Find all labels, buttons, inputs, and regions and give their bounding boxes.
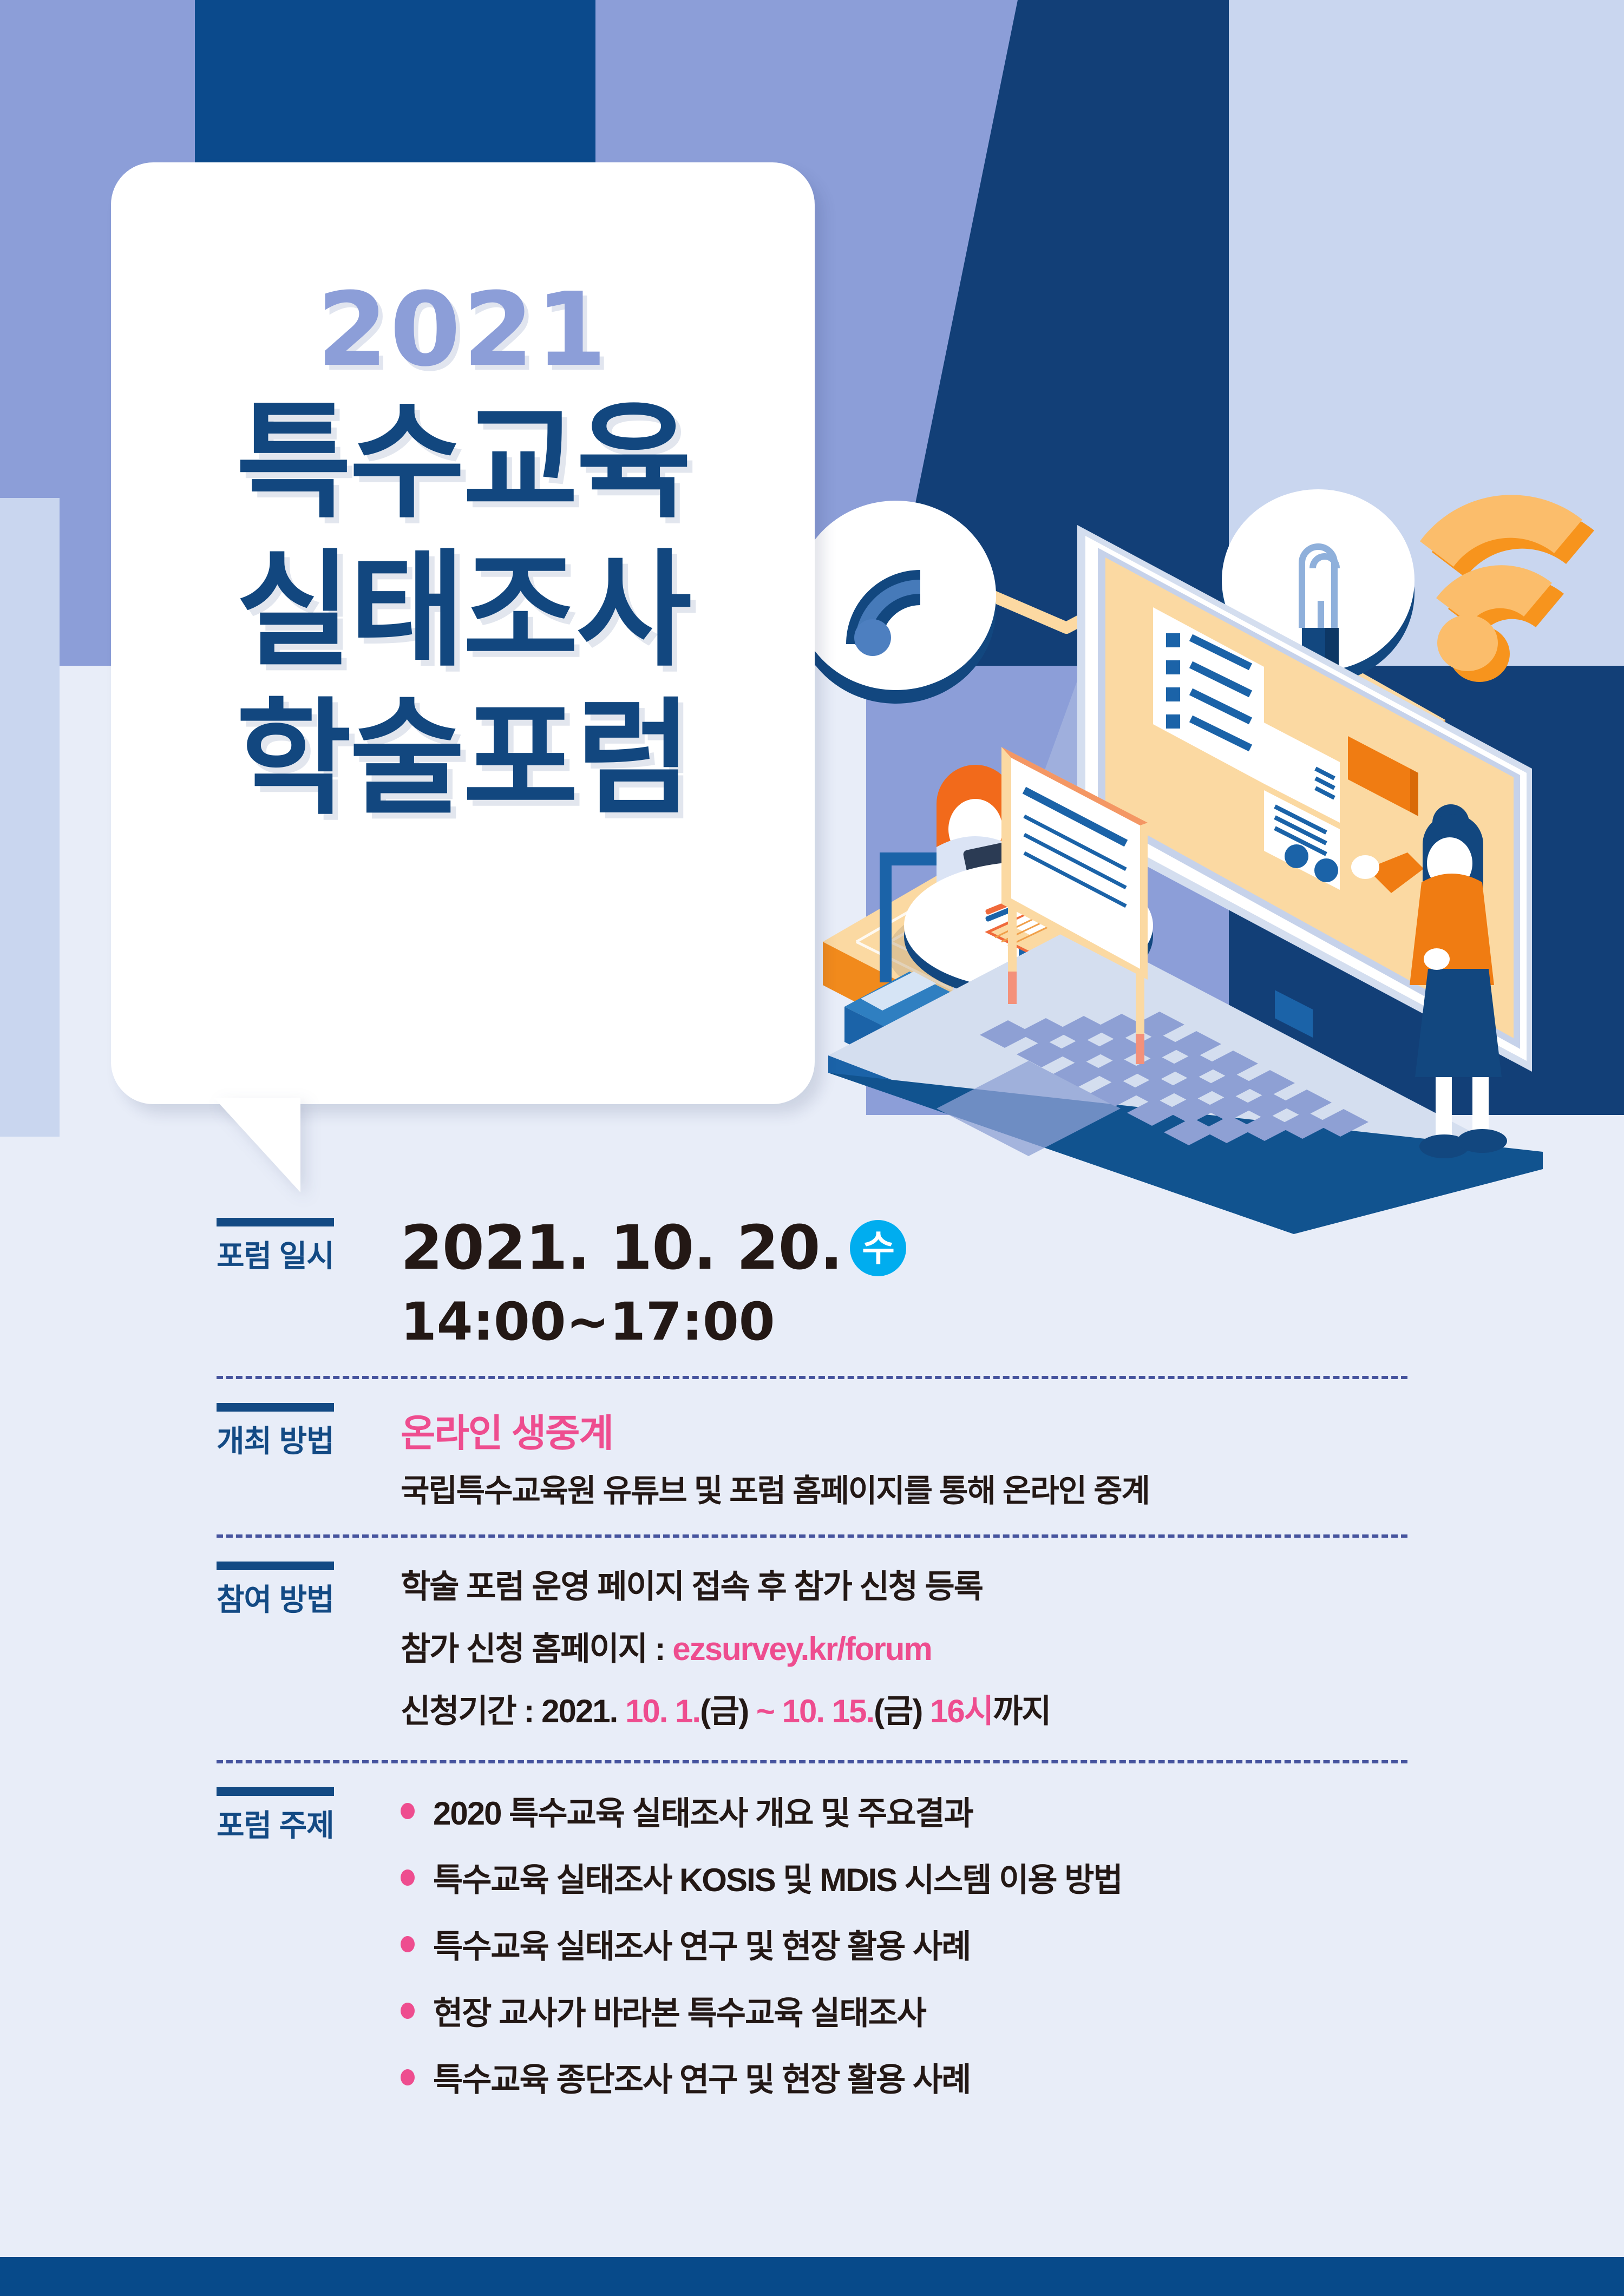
divider-2 [217,1534,1407,1538]
period-end: 10. 15. [782,1693,874,1729]
participation-line-1: 학술 포럼 운영 페이지 접속 후 참가 신청 등록 [401,1562,1543,1612]
title-speech-bubble-card: 2021 특수교육 실태조사 학술포럼 [111,162,815,1104]
topics-label: 포럼 주제 [217,1787,334,1845]
isometric-illustration [774,465,1624,1234]
homepage-label: 참가 신청 홈페이지 : [401,1631,665,1667]
wifi-dish-icon [796,501,996,704]
period-year: 2021. [541,1693,617,1729]
speech-bubble-tail [214,1098,300,1192]
period-hour: 16시 [930,1693,993,1729]
period-start-day: (금) [700,1693,748,1729]
divider-1 [217,1376,1407,1379]
method-value-col: 온라인 생중계 국립특수교육원 유튜브 및 포럼 홈페이지를 통해 온라인 중계 [401,1403,1624,1511]
divider-3 [217,1760,1407,1763]
period-suffix: 까지 [993,1693,1050,1729]
bullet-dot-icon [401,1936,415,1952]
method-headline: 온라인 생중계 [401,1403,1543,1458]
poster-info-block: 포럼 일시 2021. 10. 20. 수 14:00~17:00 개최 방법 … [0,1218,1624,2120]
footer-bar [0,2257,1624,2296]
weekday-badge: 수 [850,1220,906,1276]
bullet-dot-icon [401,1803,415,1819]
method-label-col: 개최 방법 [0,1403,401,1511]
participation-homepage-line: 참가 신청 홈페이지 : ezsurvey.kr/forum [401,1624,1543,1674]
poster-root: 2021 특수교육 실태조사 학술포럼 [0,0,1624,2296]
datetime-value-col: 2021. 10. 20. 수 14:00~17:00 [401,1218,1624,1352]
topics-list: 2020 특수교육 실태조사 개요 및 주요결과 특수교육 실태조사 KOSIS… [401,1787,1624,2120]
period-end-day: (금) [874,1693,922,1729]
topic-text: 특수교육 실태조사 연구 및 현장 활용 사례 [433,1920,970,1967]
list-item: 2020 특수교육 실태조사 개요 및 주요결과 [401,1787,1543,1834]
title-line-3: 학술포럼 [111,685,815,834]
topic-text: 특수교육 종단조사 연구 및 현장 활용 사례 [433,2054,970,2101]
method-detail: 국립특수교육원 유튜브 및 포럼 홈페이지를 통해 온라인 중계 [401,1465,1543,1511]
bullet-dot-icon [401,1869,415,1886]
participation-value-col: 학술 포럼 운영 페이지 접속 후 참가 신청 등록 참가 신청 홈페이지 : … [401,1562,1624,1736]
title-line-1: 특수교육 [111,389,815,537]
topics-label-col: 포럼 주제 [0,1787,401,2120]
method-label: 개최 방법 [217,1403,334,1461]
section-method: 개최 방법 온라인 생중계 국립특수교육원 유튜브 및 포럼 홈페이지를 통해 … [0,1403,1624,1511]
section-topics: 포럼 주제 2020 특수교육 실태조사 개요 및 주요결과 특수교육 실태조사… [0,1787,1624,2120]
participation-label-col: 참여 방법 [0,1562,401,1736]
participation-label: 참여 방법 [217,1562,334,1619]
poster-title: 특수교육 실태조사 학술포럼 [111,389,815,833]
topic-text: 2020 특수교육 실태조사 개요 및 주요결과 [433,1787,973,1834]
section-participation: 참여 방법 학술 포럼 운영 페이지 접속 후 참가 신청 등록 참가 신청 홈… [0,1562,1624,1736]
bullet-dot-icon [401,2003,415,2019]
poster-year: 2021 [111,271,815,389]
period-label: 신청기간 : [401,1693,533,1729]
title-line-2: 실태조사 [111,537,815,685]
forum-date-text: 2021. 10. 20. [401,1218,842,1278]
forum-time: 14:00~17:00 [401,1291,1543,1352]
wifi-icon-orange [1420,495,1594,682]
period-tilde: ~ [756,1693,774,1729]
bullet-dot-icon [401,2069,415,2085]
datetime-label-col: 포럼 일시 [0,1218,401,1352]
list-item: 특수교육 실태조사 연구 및 현장 활용 사례 [401,1920,1543,1967]
period-start: 10. 1. [625,1693,700,1729]
topic-text: 특수교육 실태조사 KOSIS 및 MDIS 시스템 이용 방법 [433,1854,1122,1901]
participation-period-line: 신청기간 : 2021. 10. 1.(금) ~ 10. 15.(금) 16시까… [401,1686,1543,1736]
list-item: 현장 교사가 바라본 특수교육 실태조사 [401,1987,1543,2034]
list-item: 특수교육 종단조사 연구 및 현장 활용 사례 [401,2054,1543,2101]
list-item: 특수교육 실태조사 KOSIS 및 MDIS 시스템 이용 방법 [401,1854,1543,1901]
datetime-label: 포럼 일시 [217,1218,334,1276]
section-datetime: 포럼 일시 2021. 10. 20. 수 14:00~17:00 [0,1218,1624,1352]
topic-text: 현장 교사가 바라본 특수교육 실태조사 [433,1987,926,2034]
homepage-url[interactable]: ezsurvey.kr/forum [672,1631,931,1667]
forum-date: 2021. 10. 20. 수 [401,1218,1543,1278]
